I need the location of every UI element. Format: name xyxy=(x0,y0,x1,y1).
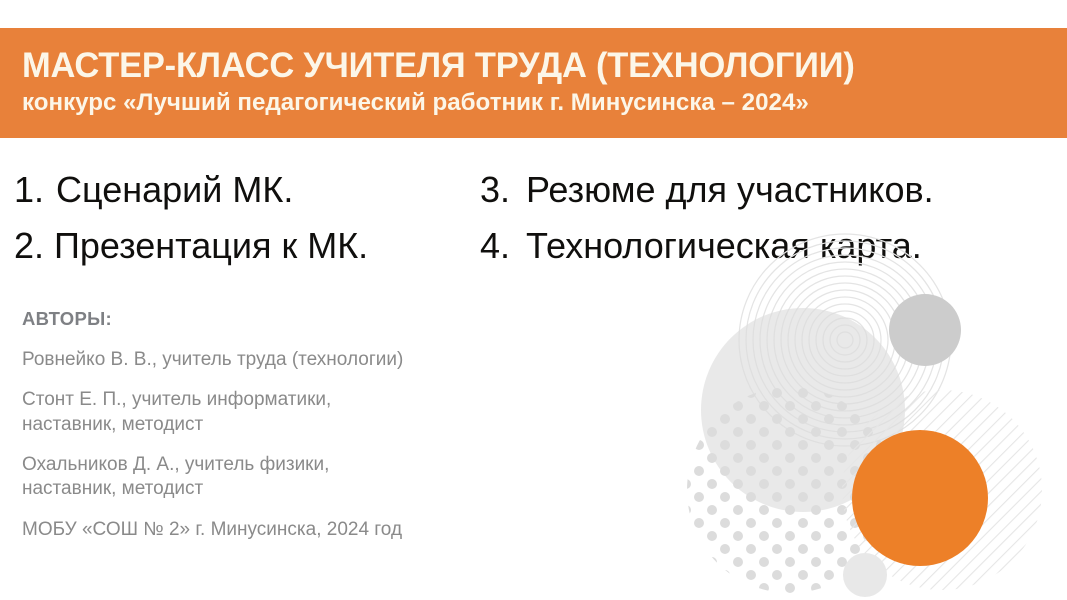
hatched-circle xyxy=(835,385,1050,600)
banner-title: МАСТЕР-КЛАСС УЧИТЕЛЯ ТРУДА (ТЕХНОЛОГИИ) xyxy=(22,47,1036,85)
slide-canvas: МАСТЕР-КЛАСС УЧИТЕЛЯ ТРУДА (ТЕХНОЛОГИИ) … xyxy=(0,0,1067,600)
agenda-item-3: 3.Резюме для участников. xyxy=(480,172,934,208)
orange-accent-circle xyxy=(852,430,988,566)
author-line: Стонт Е. П., учитель информатики, настав… xyxy=(22,388,642,437)
solid-gray-circle xyxy=(889,294,961,366)
agenda-item-1-label: Сценарий МК. xyxy=(56,172,293,208)
agenda-list: 1.Сценарий МК. 2.Презентация к МК. 3.Рез… xyxy=(0,160,1067,270)
agenda-item-3-label: Резюме для участников. xyxy=(526,172,934,208)
banner-subtitle: конкурс «Лучший педагогический работник … xyxy=(22,89,1036,116)
agenda-item-1-number: 1. xyxy=(14,172,56,208)
agenda-item-4: 4.Технологическая карта. xyxy=(480,228,922,264)
agenda-item-3-number: 3. xyxy=(480,172,526,208)
agenda-item-1: 1.Сценарий МК. xyxy=(14,172,293,208)
dotted-pattern-circle xyxy=(680,380,905,600)
soft-gray-circle xyxy=(701,308,905,512)
title-banner: МАСТЕР-КЛАСС УЧИТЕЛЯ ТРУДА (ТЕХНОЛОГИИ) … xyxy=(0,28,1067,138)
small-gray-circle xyxy=(843,553,887,597)
agenda-item-4-label: Технологическая карта. xyxy=(526,228,922,264)
agenda-item-2: 2.Презентация к МК. xyxy=(14,228,368,264)
authors-block: АВТОРЫ: Ровнейко В. В., учитель труда (т… xyxy=(22,308,642,542)
agenda-item-2-label: Презентация к МК. xyxy=(54,228,368,264)
author-line: Охальников Д. А., учитель физики, настав… xyxy=(22,453,642,502)
decorative-circles-graphic xyxy=(640,230,1067,600)
author-line: Ровнейко В. В., учитель труда (технологи… xyxy=(22,348,642,372)
author-line: МОБУ «СОШ № 2» г. Минусинска, 2024 год xyxy=(22,518,642,542)
agenda-item-4-number: 4. xyxy=(480,228,526,264)
authors-heading: АВТОРЫ: xyxy=(22,308,642,330)
agenda-item-2-number: 2. xyxy=(14,228,54,264)
